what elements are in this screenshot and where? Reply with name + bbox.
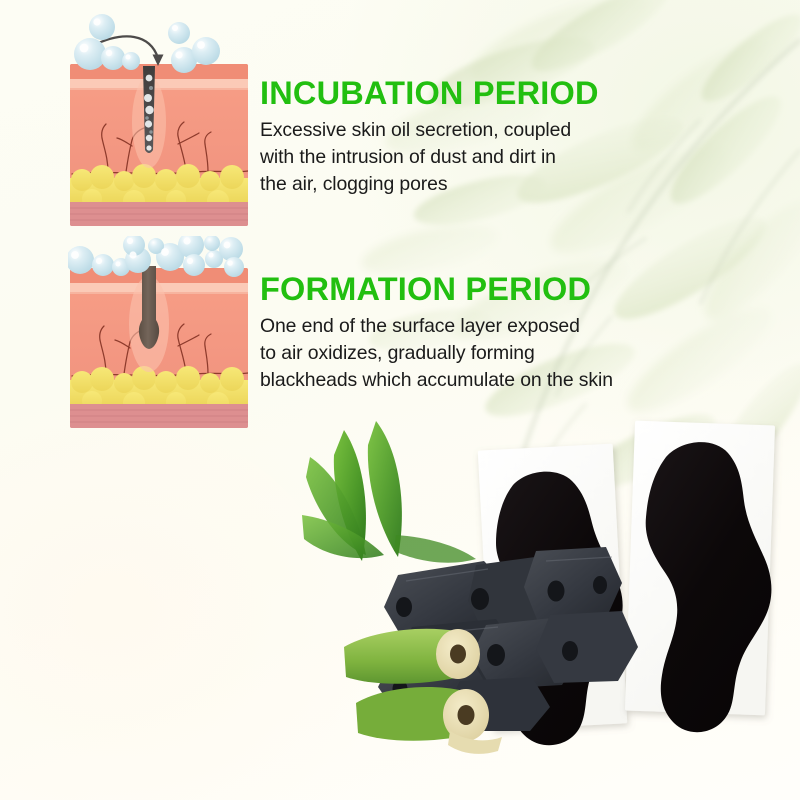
- clogged-pore: [143, 66, 155, 153]
- section-incubation-text: INCUBATION PERIOD Excessive skin oil sec…: [260, 76, 660, 198]
- bamboo-leaves: [302, 421, 476, 563]
- body-incubation-period: Excessive skin oil secretion, coupled wi…: [260, 117, 660, 198]
- infographic-canvas: INCUBATION PERIOD Excessive skin oil sec…: [0, 0, 800, 800]
- body-line: One end of the surface layer exposed: [260, 313, 700, 340]
- body-line: Excessive skin oil secretion, coupled: [260, 117, 660, 144]
- body-line: with the intrusion of dust and dirt in: [260, 144, 660, 171]
- heading-formation-period: FORMATION PERIOD: [260, 272, 700, 306]
- skin-diagram-incubation: [68, 6, 250, 228]
- skin-diagram-formation: [68, 236, 250, 430]
- body-line: the air, clogging pores: [260, 171, 660, 198]
- section-formation-text: FORMATION PERIOD One end of the surface …: [260, 272, 700, 394]
- body-line: blackheads which accumulate on the skin: [260, 367, 700, 394]
- product-photo: [300, 415, 800, 800]
- body-line: to air oxidizes, gradually forming: [260, 340, 700, 367]
- heading-incubation-period: INCUBATION PERIOD: [260, 76, 660, 110]
- body-formation-period: One end of the surface layer exposed to …: [260, 313, 700, 394]
